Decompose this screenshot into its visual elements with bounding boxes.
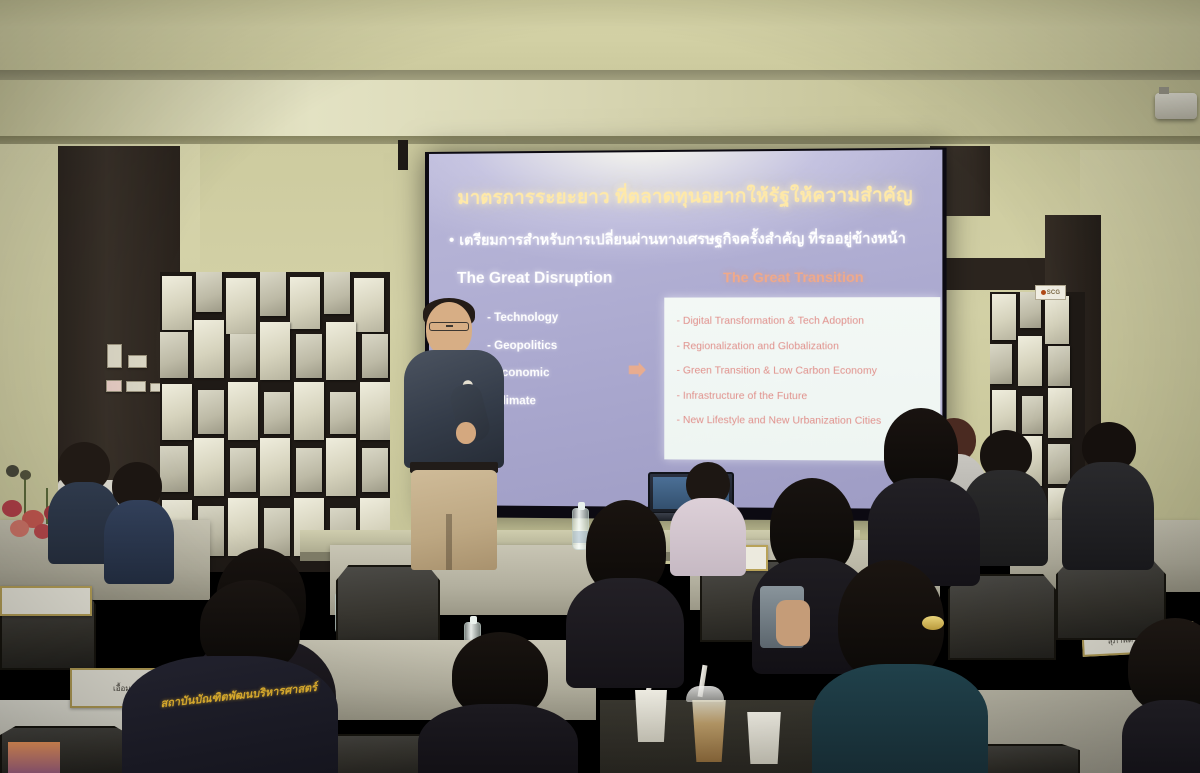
list-item: - Geopolitics bbox=[487, 340, 656, 352]
slide-title: มาตรการระยะยาว ที่ตลาดทุนอยากให้รัฐให้คว… bbox=[439, 180, 932, 212]
audience-member bbox=[566, 500, 684, 680]
audience-member bbox=[1062, 422, 1154, 562]
paper-cup bbox=[744, 712, 784, 764]
right-column-heading: The Great Transition bbox=[656, 268, 932, 285]
presenter-leg-gap bbox=[446, 514, 452, 570]
scg-mark-icon bbox=[1041, 290, 1046, 295]
list-item: - Climate bbox=[487, 395, 656, 408]
list-item: - Infrastructure of the Future bbox=[677, 390, 934, 402]
list-item: - Regionalization and Globalization bbox=[677, 341, 934, 352]
screen-left-edge-beam bbox=[398, 140, 408, 170]
slide-columns: The Great Disruption - Technology - Geop… bbox=[439, 268, 932, 424]
presenter-trousers bbox=[411, 470, 497, 570]
wall-light-band bbox=[0, 80, 1200, 138]
audience-member bbox=[104, 462, 174, 572]
scg-logo-sign: SCG bbox=[1035, 285, 1066, 300]
audience-member bbox=[418, 632, 578, 773]
wall-plaque-b bbox=[106, 380, 122, 392]
person-torso bbox=[122, 656, 338, 773]
audience-member: สถาบันบัณฑิตพัฒนบริหารศาสตร์ bbox=[122, 580, 338, 773]
cup-lid-icon bbox=[686, 686, 724, 702]
person-torso bbox=[812, 664, 988, 773]
flower-bud-icon bbox=[20, 470, 31, 480]
upper-wall bbox=[0, 0, 1200, 78]
list-item: - Green Transition & Low Carbon Economy bbox=[677, 365, 934, 377]
slide-main-bullet-text: เตรียมการสำหรับการเปลี่ยนผ่านทางเศรษฐกิจ… bbox=[459, 231, 906, 249]
slide-main-bullet: •เตรียมการสำหรับการเปลี่ยนผ่านทางเศรษฐกิ… bbox=[439, 228, 932, 252]
person-torso bbox=[418, 704, 578, 773]
hair-tie-icon bbox=[922, 616, 944, 630]
slide-right-column: The Great Transition - Digital Transform… bbox=[656, 268, 932, 424]
audience-member bbox=[812, 560, 988, 773]
list-item: - Technology bbox=[487, 312, 656, 324]
paper-cup bbox=[632, 690, 670, 742]
person-torso bbox=[566, 578, 684, 688]
hand bbox=[776, 600, 810, 646]
conference-room-scene: SCG มาตรการระยะยาว ที่ตลาดทุนอยากให้รัฐใ… bbox=[0, 0, 1200, 773]
wall-plaque-a bbox=[128, 355, 147, 368]
nameplate bbox=[0, 586, 92, 616]
wall-plaque-c bbox=[126, 381, 146, 392]
person-torso bbox=[1122, 700, 1200, 773]
presenter bbox=[398, 302, 510, 570]
flower-icon bbox=[10, 520, 29, 537]
flower-icon bbox=[2, 500, 22, 517]
audience-member bbox=[868, 408, 980, 578]
list-item: - Digital Transformation & Tech Adoption bbox=[677, 316, 934, 327]
booklet bbox=[8, 742, 60, 773]
scg-brand-label: SCG bbox=[1047, 290, 1061, 296]
flower-bud-icon bbox=[6, 465, 19, 477]
ceiling-projector-icon bbox=[1155, 93, 1197, 119]
presenter-hand bbox=[456, 422, 476, 444]
eyeglasses-icon bbox=[429, 322, 469, 331]
bullet-marker-icon: • bbox=[449, 232, 454, 249]
wall-plaque-lock-icon bbox=[107, 344, 122, 368]
person-torso bbox=[104, 500, 174, 584]
left-column-heading: The Great Disruption bbox=[457, 269, 656, 288]
person-torso bbox=[1062, 462, 1154, 570]
audience-member bbox=[1122, 618, 1200, 773]
